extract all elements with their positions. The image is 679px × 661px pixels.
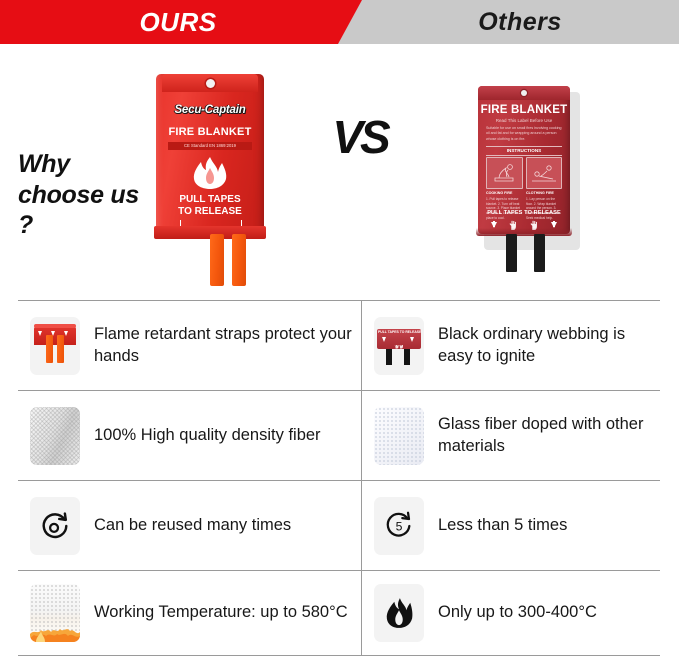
table-row: Can be reused many times 5 Less than 5 t… — [18, 481, 660, 571]
ours-feature-text: Flame retardant straps protect your hand… — [94, 324, 353, 368]
others-pull-instruction: PULL TAPES TO RELEASE — [482, 210, 566, 216]
orange-strap — [46, 335, 53, 363]
flame-icon — [374, 584, 424, 642]
others-feature-text: Only up to 300-400°C — [438, 602, 597, 624]
others-product-image: FIRE BLANKET Read This Label Before Use … — [478, 86, 574, 246]
arrow-down-icon — [410, 337, 414, 342]
others-product-title: FIRE BLANKET — [480, 104, 568, 116]
ours-orange-strap — [232, 234, 246, 286]
header-ours-label: OURS — [98, 0, 258, 44]
table-row: Working Temperature: up to 580°C Only up… — [18, 571, 660, 656]
reuse-cycle-icon — [30, 497, 80, 555]
others-product-meta: Suitable for use on small fires involvin… — [486, 126, 562, 142]
others-black-strap — [534, 234, 545, 272]
hang-hole-icon — [521, 90, 527, 96]
red-pouch-black-webbing-thumb: PULL TAPES TO RELEASE — [374, 317, 424, 375]
table-row: Flame retardant straps protect your hand… — [18, 301, 660, 391]
hang-hole-icon — [206, 79, 215, 88]
others-col1-body: 1. Pull tapes to release blanket. 2. Tur… — [486, 197, 520, 220]
others-pouch-body: FIRE BLANKET Read This Label Before Use … — [478, 86, 570, 234]
reuse-limit-5-icon: 5 — [374, 497, 424, 555]
black-webbing-strap — [404, 349, 410, 365]
flame-icon — [190, 156, 230, 190]
arrow-down-icon — [38, 331, 42, 336]
hand-pull-icon — [394, 337, 404, 344]
grey-woven-fabric-thumb — [30, 407, 80, 465]
others-product-subtitle: Read This Label Before Use — [480, 118, 568, 123]
others-col2-title: CLOTHING FIRE — [526, 191, 562, 196]
hero-section: Why choose us ? Secu-Captain FIRE BLANKE… — [0, 44, 679, 294]
ours-feature-text: 100% High quality density fiber — [94, 425, 321, 447]
pale-dotted-fabric-thumb — [374, 407, 424, 465]
others-feature-text: Black ordinary webbing is easy to ignite — [438, 324, 652, 368]
ours-feature-text: Can be reused many times — [94, 515, 291, 537]
red-pouch-orange-straps-thumb — [30, 317, 80, 375]
ours-brand-label: Secu-Captain — [160, 104, 260, 116]
flame-icon — [30, 618, 80, 642]
ours-pouch-body: Secu-Captain FIRE BLANKET CE Standard EN… — [156, 74, 264, 234]
vs-badge: VS — [325, 102, 395, 172]
others-feature-text: Less than 5 times — [438, 515, 567, 537]
header-others-label: Others — [430, 0, 610, 44]
ours-pull-instruction: PULL TAPESTO RELEASE — [160, 194, 260, 217]
others-black-strap — [506, 234, 517, 272]
black-webbing-strap — [386, 349, 392, 365]
table-row: 100% High quality density fiber Glass fi… — [18, 391, 660, 481]
ours-cell-temperature: Working Temperature: up to 580°C — [18, 571, 362, 655]
others-cell-reuse: 5 Less than 5 times — [362, 481, 660, 570]
others-col1-title: COOKING FIRE — [486, 191, 522, 196]
orange-strap — [57, 335, 64, 363]
ours-cell-straps: Flame retardant straps protect your hand… — [18, 301, 362, 390]
reuse-count-badge: 5 — [396, 519, 403, 533]
ours-product-title: FIRE BLANKET — [158, 126, 262, 138]
others-instruction-panels — [486, 157, 562, 189]
page-title: Why choose us ? — [18, 149, 148, 241]
arrow-down-icon — [491, 222, 497, 228]
ours-product-image: Secu-Captain FIRE BLANKET CE Standard EN… — [156, 66, 264, 246]
ours-cell-fiber: 100% High quality density fiber — [18, 391, 362, 480]
ours-orange-strap — [210, 234, 224, 286]
others-feature-text: Glass fiber doped with other materials — [438, 414, 652, 458]
others-instructions-label: INSTRUCTIONS — [486, 146, 562, 156]
ours-cell-reuse: Can be reused many times — [18, 481, 362, 570]
ours-feature-text: Working Temperature: up to 580°C — [94, 602, 348, 624]
comparison-header: OURS Others — [0, 0, 679, 44]
clothing-fire-illustration — [526, 157, 563, 189]
cooking-fire-illustration — [486, 157, 523, 189]
others-cell-temperature: Only up to 300-400°C — [362, 571, 660, 655]
arrow-down-icon — [382, 337, 386, 342]
others-cell-webbing: PULL TAPES TO RELEASE Black ordinary web… — [362, 301, 660, 390]
ours-certification-label: CE Standard EN 1869:2019 — [168, 142, 252, 150]
others-col2-body: 1. Lay person on the floor. 2. Wrap blan… — [526, 197, 558, 220]
thumb-pull-label: PULL TAPES TO RELEASE — [378, 330, 420, 334]
arrow-down-icon — [551, 222, 557, 228]
fabric-with-flames-thumb — [30, 584, 80, 642]
comparison-table: Flame retardant straps protect your hand… — [18, 300, 660, 656]
arrow-down-icon — [64, 331, 68, 336]
others-cell-fiber: Glass fiber doped with other materials — [362, 391, 660, 480]
others-pouch-base — [476, 228, 572, 236]
